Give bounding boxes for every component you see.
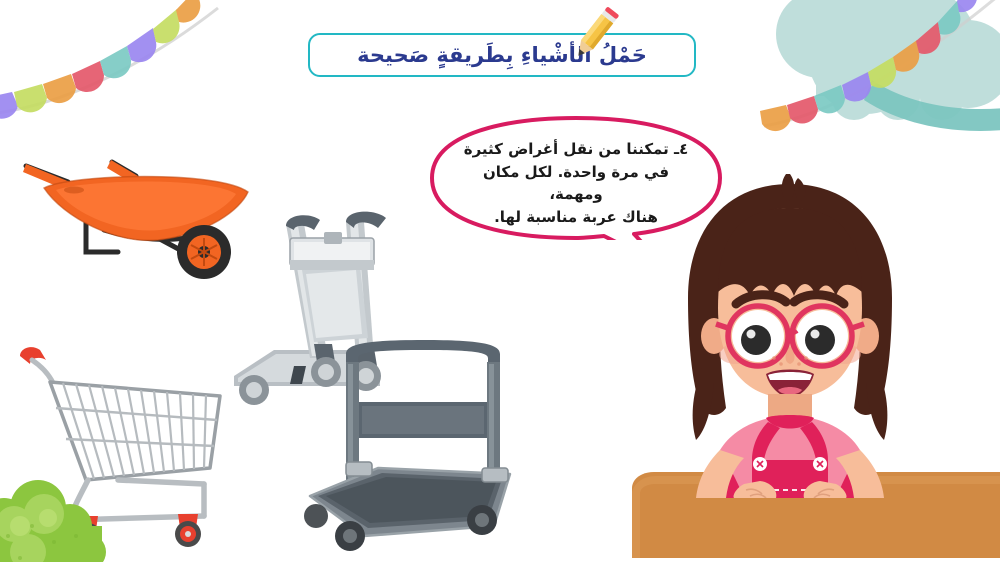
slide-canvas: حَمْلُ الأشْياءِ بِطَريقةٍ صَحيحة ٤ـ ت [0,0,1000,562]
cloud-shape [746,0,1000,152]
shopping-cart-image [0,334,228,562]
page-title: حَمْلُ الأشْياءِ بِطَريقةٍ صَحيحة [308,33,696,77]
speech-line-1: ٤ـ تمكننا من نقل أغراض كثيرة [454,138,698,161]
wheelbarrow-image [8,148,258,302]
girl-student-character [640,168,940,502]
bunting-garland-right [754,0,1000,144]
platform-trolley-image [304,340,524,562]
title-box: حَمْلُ الأشْياءِ بِطَريقةٍ صَحيحة [308,33,696,77]
bunting-garland-left [0,0,286,128]
pencil-icon [562,3,626,71]
